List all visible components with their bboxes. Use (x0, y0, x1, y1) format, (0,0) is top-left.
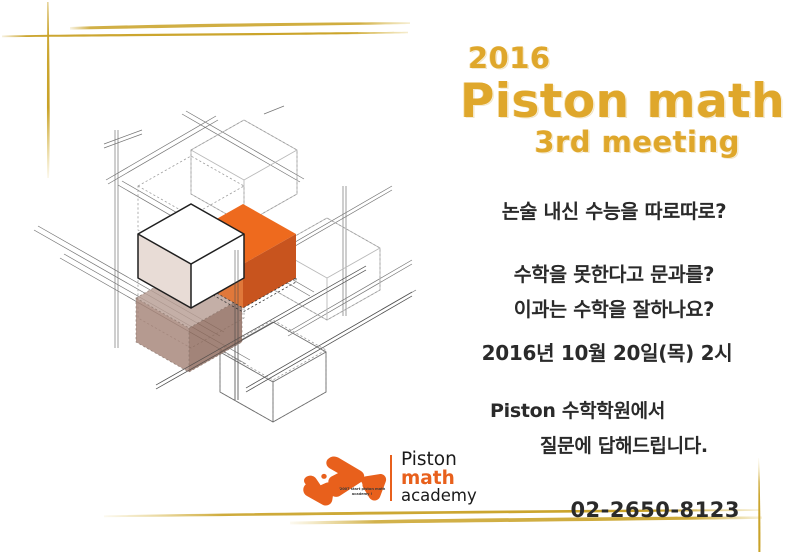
logo-word-piston: Piston (401, 451, 485, 470)
page-title: Piston math (440, 78, 788, 125)
headline-block: 2016 Piston math 3rd meeting (440, 44, 788, 157)
logo-tagline: '2007 start piston math academy ! (336, 487, 388, 497)
phone-number: 02-2650-8123 (440, 498, 788, 522)
venue-line-1: Piston 수학학원에서 (440, 396, 788, 423)
logo-divider (390, 455, 392, 501)
venue-line-2: 질문에 답해드립니다. (440, 431, 788, 458)
academy-logo: '2007 start piston math academy ! Piston… (300, 447, 485, 509)
page-subtitle: 3rd meeting (440, 128, 788, 157)
event-info-block: 2016년 10월 20일(목) 2시 Piston 수학학원에서 질문에 답해… (440, 337, 788, 522)
poster-canvas: 2016 Piston math 3rd meeting 논술 내신 수능을 따… (0, 0, 798, 558)
question-line-1: 논술 내신 수능을 따로따로? (440, 195, 788, 224)
logo-word-academy: academy (401, 488, 485, 505)
event-date: 2016년 10월 20일(목) 2시 (440, 337, 788, 366)
question-block: 논술 내신 수능을 따로따로? 수학을 못한다고 문과를? 이과는 수학을 잘하… (440, 195, 788, 322)
logo-wordmark: Piston math academy (401, 451, 485, 505)
year-label: 2016 (440, 44, 788, 73)
three-orange-arrows-icon: '2007 start piston math academy ! (300, 449, 388, 507)
isometric-cube-artwork (20, 100, 420, 440)
question-line-2: 수학을 못한다고 문과를? (440, 258, 788, 287)
question-line-3: 이과는 수학을 잘하나요? (440, 293, 788, 322)
